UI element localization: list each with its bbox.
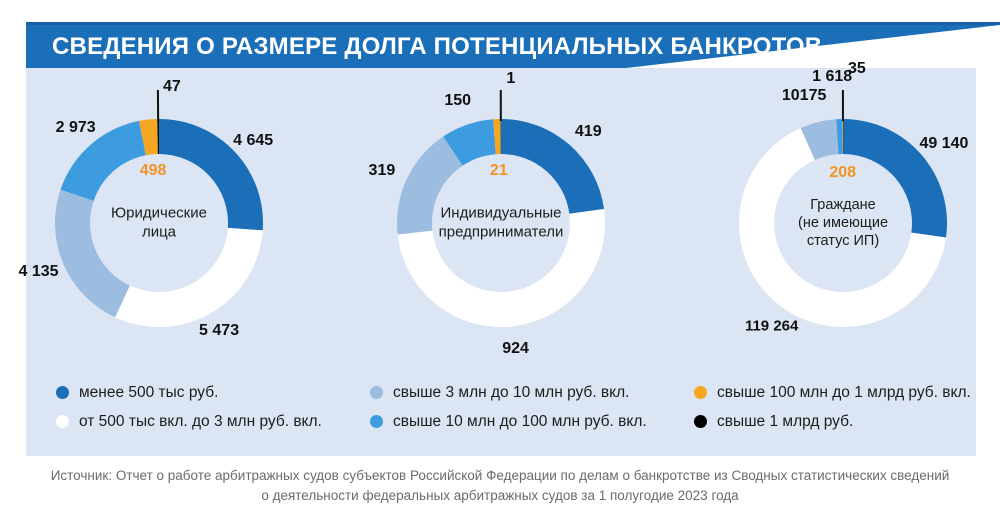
slice-value-label: 4 645 <box>233 132 273 150</box>
donut-chart-2: Индивидуальныепредприниматели41992431915… <box>368 90 634 356</box>
source-note: Источник: Отчет о работе арбитражных суд… <box>50 466 950 505</box>
slice-value-label: 10175 <box>782 87 827 105</box>
legend-item-label: свыше 3 млн до 10 млн руб. вкл. <box>393 384 629 402</box>
slice-value-label: 498 <box>140 162 167 180</box>
legend-swatch-icon <box>694 386 707 399</box>
slice-value-label: 21 <box>490 162 508 180</box>
slice-value-label: 319 <box>369 162 396 180</box>
donut-center-label: Юридическиелица <box>84 204 234 242</box>
legend-item[interactable]: свыше 100 млн до 1 млрд руб. вкл. <box>694 378 971 407</box>
legend-swatch-icon <box>370 415 383 428</box>
legend-item-label: от 500 тыс вкл. до 3 млн руб. вкл. <box>79 413 322 431</box>
center-label-line: Индивидуальные <box>426 204 576 223</box>
legend-swatch-icon <box>56 415 69 428</box>
slice-value-label: 419 <box>575 123 602 141</box>
legend-swatch-icon <box>694 415 707 428</box>
slice-value-label: 924 <box>502 340 529 358</box>
legend-swatch-icon <box>56 386 69 399</box>
legend-item-label: менее 500 тыс руб. <box>79 384 218 402</box>
legend-item[interactable]: свыше 1 млрд руб. <box>694 407 971 436</box>
center-label-line: статус ИП) <box>768 232 918 250</box>
legend-swatch-icon <box>370 386 383 399</box>
slice-value-label: 47 <box>163 78 181 96</box>
infographic-frame: СВЕДЕНИЯ О РАЗМЕРЕ ДОЛГА ПОТЕНЦИАЛЬНЫХ Б… <box>0 0 1000 523</box>
legend-column-1: менее 500 тыс руб.от 500 тыс вкл. до 3 м… <box>56 378 322 436</box>
charts-row: Юридическиелица4 6455 4734 1352 97349847… <box>26 90 976 360</box>
legend-item-label: свыше 10 млн до 100 млн руб. вкл. <box>393 413 647 431</box>
legend-item[interactable]: свыше 3 млн до 10 млн руб. вкл. <box>370 378 647 407</box>
legend-column-3: свыше 100 млн до 1 млрд руб. вкл.свыше 1… <box>694 378 971 436</box>
slice-value-label: 5 473 <box>199 322 239 340</box>
legend: менее 500 тыс руб.от 500 тыс вкл. до 3 м… <box>26 378 976 440</box>
center-label-line: (не имеющие <box>768 214 918 232</box>
slice-value-label: 119 264 <box>745 317 798 334</box>
center-label-line: предприниматели <box>426 223 576 242</box>
legend-item[interactable]: свыше 10 млн до 100 млн руб. вкл. <box>370 407 647 436</box>
slice-value-label: 1 618 <box>812 68 852 86</box>
slice-value-label: 208 <box>829 164 856 182</box>
legend-item-label: свыше 1 млрд руб. <box>717 413 853 431</box>
donut-center-label: Индивидуальныепредприниматели <box>426 204 576 242</box>
slice-value-label: 4 135 <box>18 263 58 281</box>
legend-column-2: свыше 3 млн до 10 млн руб. вкл.свыше 10 … <box>370 378 647 436</box>
donut-center-label: Граждане(не имеющиестатус ИП) <box>768 196 918 250</box>
slice-value-label: 1 <box>506 70 515 88</box>
center-label-line: лица <box>84 223 234 242</box>
donut-slice <box>115 228 263 327</box>
slice-value-label: 2 973 <box>56 119 96 137</box>
donut-chart-1: Юридическиелица4 6455 4734 1352 97349847 <box>26 90 292 356</box>
slice-value-label: 150 <box>444 92 471 110</box>
center-label-line: Юридические <box>84 204 234 223</box>
legend-item[interactable]: менее 500 тыс руб. <box>56 378 322 407</box>
donut-chart-3: Граждане(не имеющиестатус ИП)49 140119 2… <box>710 90 976 356</box>
legend-item[interactable]: от 500 тыс вкл. до 3 млн руб. вкл. <box>56 407 322 436</box>
center-label-line: Граждане <box>768 196 918 214</box>
slice-value-label: 49 140 <box>920 135 969 153</box>
page-title: СВЕДЕНИЯ О РАЗМЕРЕ ДОЛГА ПОТЕНЦИАЛЬНЫХ Б… <box>52 25 822 68</box>
slice-value-label: 35 <box>848 60 866 78</box>
legend-item-label: свыше 100 млн до 1 млрд руб. вкл. <box>717 384 971 402</box>
